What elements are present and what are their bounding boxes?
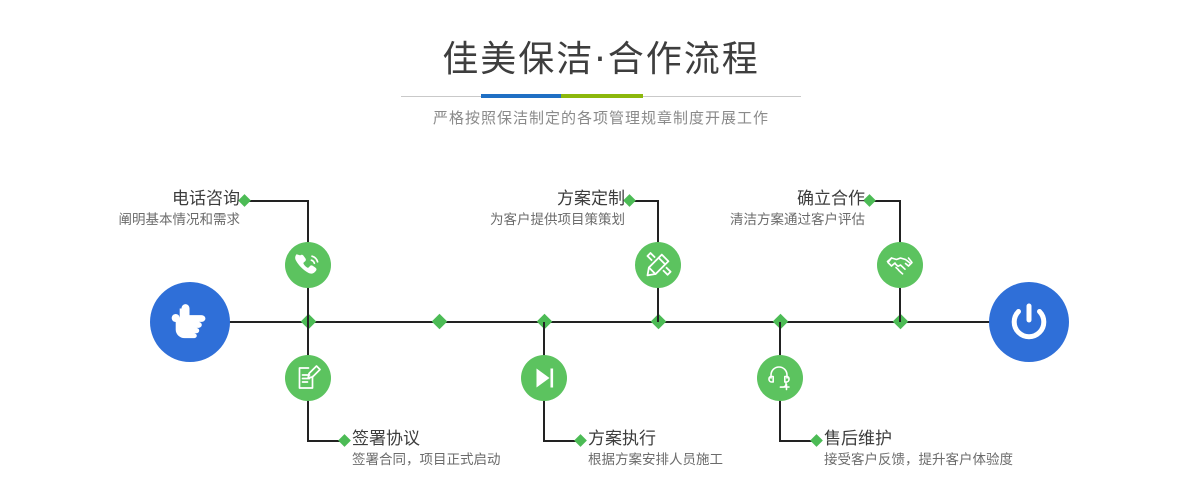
step-label-top-1: 电话咨询 阐明基本情况和需求 [34, 188, 240, 230]
step-title-top-3: 确立合作 [660, 188, 865, 210]
label-marker-top-3 [863, 194, 876, 207]
label-marker-bottom-1 [338, 434, 351, 447]
connector-top-1-horizontal [244, 200, 308, 202]
page-subtitle: 严格按照保洁制定的各项管理规章制度开展工作 [0, 107, 1202, 129]
hand-pointing-icon [167, 302, 213, 342]
step-title-top-1: 电话咨询 [34, 188, 240, 210]
step-label-top-3: 确立合作 清洁方案通过客户评估 [660, 188, 865, 230]
step-icon-top-1[interactable] [285, 242, 331, 288]
step-desc-bottom-2: 根据方案安排人员施工 [588, 450, 818, 470]
connector-bottom-1-horizontal [307, 440, 342, 442]
step-title-bottom-3: 售后维护 [824, 428, 1104, 450]
step-label-bottom-3: 售后维护 接受客户反馈，提升客户体验度 [824, 428, 1104, 470]
title-divider-blue-segment [481, 94, 561, 98]
step-title-bottom-1: 签署协议 [352, 428, 582, 450]
step-icon-bottom-2[interactable] [521, 355, 567, 401]
step-title-top-2: 方案定制 [420, 188, 625, 210]
title-divider-green-segment [561, 94, 643, 98]
pencil-ruler-icon [644, 251, 672, 279]
step-icon-bottom-3[interactable] [757, 355, 803, 401]
step-icon-top-2[interactable] [635, 242, 681, 288]
phone-call-icon [293, 250, 323, 280]
step-desc-top-2: 为客户提供项目策策划 [420, 210, 625, 230]
step-icon-top-3[interactable] [877, 242, 923, 288]
step-label-bottom-2: 方案执行 根据方案安排人员施工 [588, 428, 818, 470]
start-node[interactable] [150, 282, 230, 362]
label-marker-top-2 [623, 194, 636, 207]
step-desc-bottom-1: 签署合同，项目正式启动 [352, 450, 582, 470]
page-title: 佳美保洁·合作流程 [0, 38, 1202, 82]
power-icon [1006, 299, 1052, 345]
play-skip-icon [530, 364, 558, 392]
flowchart-page: 佳美保洁·合作流程 严格按照保洁制定的各项管理规章制度开展工作 [0, 0, 1202, 502]
connector-bottom-3-horizontal [779, 440, 814, 442]
step-desc-bottom-3: 接受客户反馈，提升客户体验度 [824, 450, 1104, 470]
end-node[interactable] [989, 282, 1069, 362]
step-label-top-2: 方案定制 为客户提供项目策策划 [420, 188, 625, 230]
document-edit-icon [294, 364, 322, 392]
step-icon-bottom-1[interactable] [285, 355, 331, 401]
step-desc-top-3: 清洁方案通过客户评估 [660, 210, 865, 230]
step-title-bottom-2: 方案执行 [588, 428, 818, 450]
support-headset-icon [766, 364, 794, 392]
connector-bottom-2-horizontal [543, 440, 578, 442]
label-marker-top-1 [238, 194, 251, 207]
handshake-icon [885, 250, 915, 280]
step-desc-top-1: 阐明基本情况和需求 [34, 210, 240, 230]
axis-marker-2 [432, 314, 448, 330]
step-label-bottom-1: 签署协议 签署合同，项目正式启动 [352, 428, 582, 470]
